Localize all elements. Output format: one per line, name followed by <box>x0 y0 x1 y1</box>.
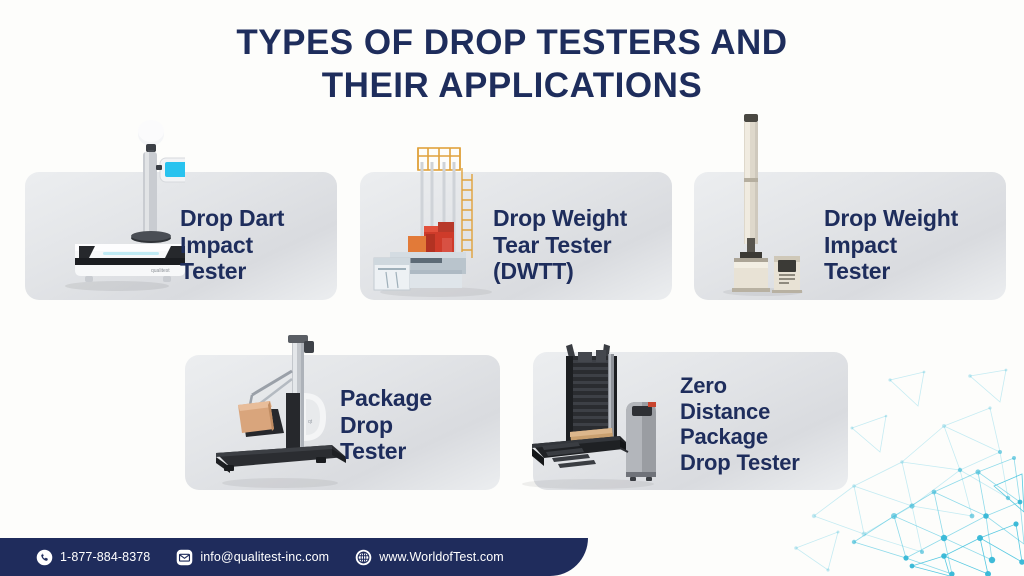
page-title: TYPES OF DROP TESTERS AND THEIR APPLICAT… <box>0 22 1024 107</box>
label-line: Distance <box>680 399 860 425</box>
card-label-drop-weight-tear-tester: Drop Weight Tear Tester (DWTT) <box>493 205 668 285</box>
drop-dart-impact-tester-image: qualitest <box>55 118 185 293</box>
drop-weight-tear-tester-image <box>366 140 496 300</box>
footer-website-label: www.WorldofTest.com <box>379 550 504 564</box>
globe-icon <box>355 549 372 566</box>
zero-distance-package-drop-tester-image <box>508 340 668 490</box>
drop-weight-impact-tester-image <box>718 112 828 297</box>
svg-text:qualitest: qualitest <box>151 268 170 274</box>
footer-phone-label: 1-877-884-8378 <box>60 550 150 564</box>
envelope-icon <box>176 549 193 566</box>
label-line: Impact <box>180 232 330 259</box>
label-line: (DWTT) <box>493 258 668 285</box>
label-line: Tear Tester <box>493 232 668 259</box>
package-drop-tester-image: qt <box>208 333 348 490</box>
svg-text:qt: qt <box>308 419 313 425</box>
label-line: Tester <box>180 258 330 285</box>
infographic-page: TYPES OF DROP TESTERS AND THEIR APPLICAT… <box>0 0 1024 576</box>
card-label-drop-dart-impact-tester: Drop Dart Impact Tester <box>180 205 330 285</box>
label-line: Drop Tester <box>680 450 860 476</box>
card-label-package-drop-tester: Package Drop Tester <box>340 385 500 465</box>
contact-footer-bar: 1-877-884-8378 info@qualitest-inc.com ww… <box>0 538 588 576</box>
label-line: Drop Weight <box>824 205 1004 232</box>
label-line: Drop Dart <box>180 205 330 232</box>
label-line: Tester <box>340 438 500 465</box>
card-label-zero-distance-package-drop-tester: Zero Distance Package Drop Tester <box>680 373 860 475</box>
footer-website[interactable]: www.WorldofTest.com <box>355 549 504 566</box>
label-line: Package <box>340 385 500 412</box>
label-line: Package <box>680 424 860 450</box>
footer-email-label: info@qualitest-inc.com <box>200 550 329 564</box>
footer-email[interactable]: info@qualitest-inc.com <box>176 549 329 566</box>
footer-phone[interactable]: 1-877-884-8378 <box>36 549 150 566</box>
page-title-line-2: THEIR APPLICATIONS <box>0 65 1024 108</box>
page-title-line-1: TYPES OF DROP TESTERS AND <box>0 22 1024 65</box>
label-line: Drop Weight <box>493 205 668 232</box>
label-line: Tester <box>824 258 1004 285</box>
card-label-drop-weight-impact-tester: Drop Weight Impact Tester <box>824 205 1004 285</box>
phone-icon <box>36 549 53 566</box>
label-line: Zero <box>680 373 860 399</box>
label-line: Drop <box>340 412 500 439</box>
label-line: Impact <box>824 232 1004 259</box>
